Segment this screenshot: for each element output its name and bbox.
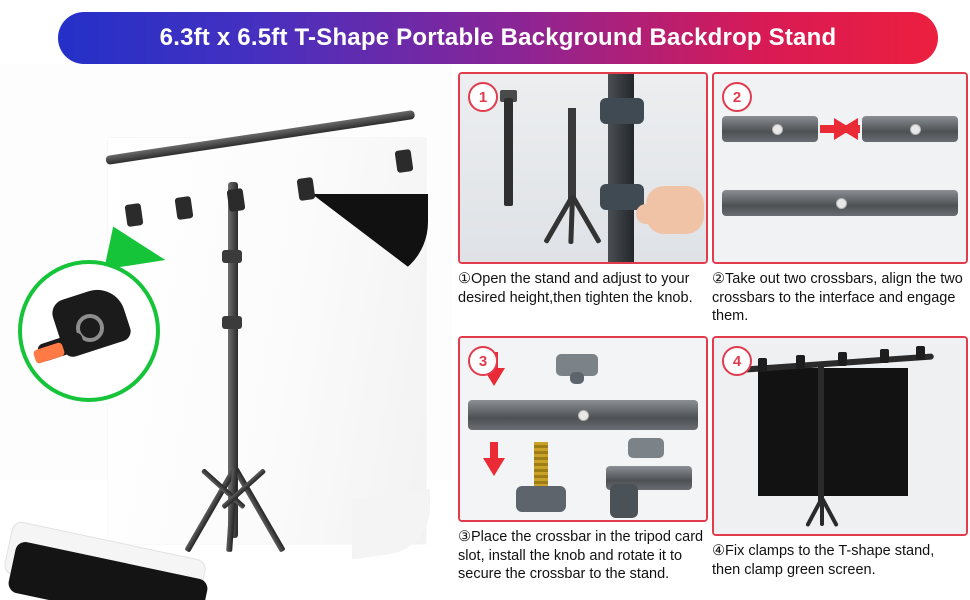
height-knob-lower (600, 184, 644, 210)
clamp-orange-tip (33, 342, 66, 365)
step-4-image: 4 (712, 336, 968, 536)
step-2-background (714, 74, 966, 262)
crossbar-clamp-1 (125, 203, 144, 227)
step-3-badge: 3 (468, 346, 498, 376)
step-1-caption: ①Open the stand and adjust to your desir… (458, 270, 704, 307)
crossbar-right-button (910, 124, 921, 135)
title-banner: 6.3ft x 6.5ft T-Shape Portable Backgroun… (58, 12, 938, 64)
post-knob-lower (222, 316, 242, 329)
hero-product-photo (0, 64, 452, 600)
crossbar-clamp-3 (227, 188, 246, 212)
step-2-image: 2 (712, 72, 968, 264)
black-screen-cloth (758, 368, 908, 496)
step-panel-2: 2 ②Take out two crossbars, align the two… (712, 72, 964, 330)
crossbar-left-button (772, 124, 783, 135)
step-1-badge: 1 (468, 82, 498, 112)
hand-thumb (636, 204, 670, 224)
open-stand-post (568, 108, 576, 200)
crossbar-side-button (578, 410, 589, 421)
arrow-down-2-icon (483, 458, 505, 476)
arrow-left-icon (840, 118, 858, 140)
clamp-magnifier-circle (18, 260, 160, 402)
step-panel-1: 1 ①Open the stand and adjust to your des… (458, 72, 704, 330)
clip-5 (916, 346, 925, 360)
step-4-caption: ④Fix clamps to the T-shape stand, then c… (712, 542, 964, 579)
step-2-badge: 2 (722, 82, 752, 112)
instruction-steps-grid: 1 ①Open the stand and adjust to your des… (458, 72, 964, 592)
rolled-backdrops (6, 534, 206, 600)
crossbar-clamp-5 (395, 149, 414, 173)
crossbar-joined-button (836, 198, 847, 209)
page-title: 6.3ft x 6.5ft T-Shape Portable Backgroun… (160, 24, 837, 52)
post-knob-upper (222, 250, 242, 263)
crossbar-clamp-2 (175, 196, 194, 220)
step-2-caption: ②Take out two crossbars, align the two c… (712, 270, 964, 326)
mount-bracket (610, 484, 638, 518)
t-stand-post (818, 366, 824, 502)
step-4-badge: 4 (722, 346, 752, 376)
tripod-card-slot-base (516, 486, 566, 512)
folded-stand-pole (504, 98, 513, 206)
step-1-image: 1 (458, 72, 708, 264)
knob-screw-thread (534, 442, 548, 488)
crossbar-clamp-4 (297, 177, 316, 201)
step-panel-3: 3 ③Place the crossbar in the tripod card… (458, 336, 704, 592)
step-3-image: 3 (458, 336, 708, 522)
clip-2 (796, 355, 805, 369)
clip-3 (838, 352, 847, 366)
crossbar-left-segment (722, 116, 818, 142)
clip-4 (880, 349, 889, 363)
height-knob-upper (600, 98, 644, 124)
step-panel-4: 4 ④Fix clamps to the T-shape stand, then… (712, 336, 964, 592)
knob-installed (628, 438, 664, 458)
clip-1 (758, 358, 767, 372)
knob-top-stem (570, 372, 584, 384)
step-3-caption: ③Place the crossbar in the tripod card s… (458, 528, 704, 584)
t-stand-leg-center (820, 498, 824, 526)
